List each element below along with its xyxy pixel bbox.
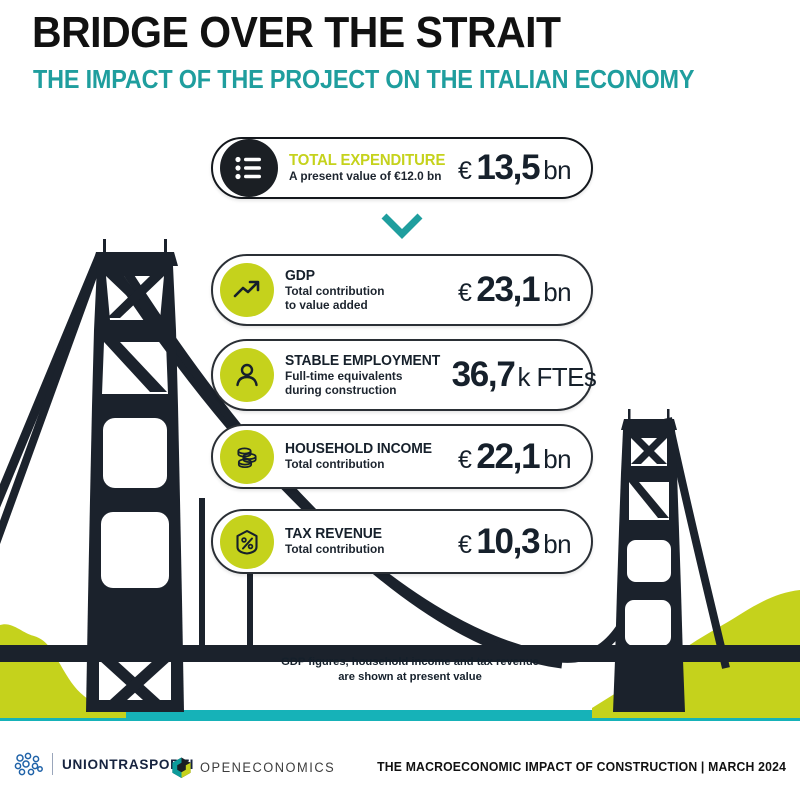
card-text-total-expenditure: TOTAL EXPENDITURE A present value of €12… xyxy=(278,153,458,184)
footer-logo-divider xyxy=(52,753,53,775)
footer xyxy=(0,721,800,789)
card-heading: TAX REVENUE xyxy=(285,526,451,542)
page-subtitle: THE IMPACT OF THE PROJECT ON THE ITALIAN… xyxy=(33,66,694,92)
card-value-tax-revenue: € 10,3 bn xyxy=(458,522,591,562)
card-household-income[interactable]: HOUSEHOLD INCOME Total contribution € 22… xyxy=(211,424,593,489)
card-value-household-income: € 22,1 bn xyxy=(458,437,591,477)
person-icon xyxy=(233,361,261,389)
tax-percent-icon xyxy=(233,528,261,556)
value-number: 23,1 xyxy=(476,270,539,310)
currency-symbol: € xyxy=(458,157,471,186)
card-subline-2: to value added xyxy=(285,298,451,313)
trend-up-icon xyxy=(232,278,262,302)
card-text-tax-revenue: TAX REVENUE Total contribution xyxy=(274,526,458,557)
currency-symbol: € xyxy=(458,446,471,475)
card-text-stable-employment: STABLE EMPLOYMENT Full-time equivalents … xyxy=(274,353,447,398)
card-value-stable-employment: 36,7 k FTEs xyxy=(447,355,617,395)
card-text-gdp: GDP Total contribution to value added xyxy=(274,268,458,313)
card-heading: TOTAL EXPENDITURE xyxy=(289,153,451,169)
openeconomics-logo-icon xyxy=(170,756,193,779)
tower-left xyxy=(86,239,184,712)
currency-symbol: € xyxy=(458,531,471,560)
value-unit: bn xyxy=(543,529,571,560)
openeconomics-logo-label: OPENECONOMICS xyxy=(200,760,335,775)
card-subline: Total contribution xyxy=(285,457,451,472)
footer-caption: THE MACROECONOMIC IMPACT OF CONSTRUCTION… xyxy=(377,759,786,774)
card-subline: Total contribution xyxy=(285,542,451,557)
card-subline: Full-time equivalents xyxy=(285,369,440,384)
value-unit: k FTEs xyxy=(517,362,596,393)
badge-total-expenditure xyxy=(220,139,278,197)
value-number: 36,7 xyxy=(452,355,515,395)
cable-left-back xyxy=(0,268,96,560)
card-tax-revenue[interactable]: TAX REVENUE Total contribution € 10,3 bn xyxy=(211,509,593,574)
card-subline-2: during construction xyxy=(285,383,440,398)
value-number: 13,5 xyxy=(476,148,539,188)
value-number: 22,1 xyxy=(476,437,539,477)
card-value-total-expenditure: € 13,5 bn xyxy=(458,148,591,188)
badge-stable-employment xyxy=(220,348,274,402)
list-icon xyxy=(234,155,264,181)
card-subline: Total contribution xyxy=(285,284,451,299)
card-heading: HOUSEHOLD INCOME xyxy=(285,441,451,457)
page-title: BRIDGE OVER THE STRAIT xyxy=(32,11,561,55)
badge-gdp xyxy=(220,263,274,317)
card-text-household-income: HOUSEHOLD INCOME Total contribution xyxy=(274,441,458,472)
card-stable-employment[interactable]: STABLE EMPLOYMENT Full-time equivalents … xyxy=(211,339,593,411)
currency-symbol: € xyxy=(458,279,471,308)
value-unit: bn xyxy=(543,277,571,308)
card-value-gdp: € 23,1 bn xyxy=(458,270,591,310)
card-gdp[interactable]: GDP Total contribution to value added € … xyxy=(211,254,593,326)
bridge-deck xyxy=(0,645,800,662)
uniontrasporti-logo-icon xyxy=(10,750,54,778)
value-unit: bn xyxy=(543,155,571,186)
card-heading: GDP xyxy=(285,268,451,284)
card-heading: STABLE EMPLOYMENT xyxy=(285,353,440,369)
value-number: 10,3 xyxy=(476,522,539,562)
badge-household-income xyxy=(220,430,274,484)
tower-right xyxy=(613,409,685,712)
coins-icon xyxy=(233,443,261,471)
value-unit: bn xyxy=(543,444,571,475)
header: BRIDGE OVER THE STRAIT THE IMPACT OF THE… xyxy=(0,0,800,118)
badge-tax-revenue xyxy=(220,515,274,569)
card-subline: A present value of €12.0 bn xyxy=(289,169,451,184)
card-total-expenditure[interactable]: TOTAL EXPENDITURE A present value of €12… xyxy=(211,137,593,199)
